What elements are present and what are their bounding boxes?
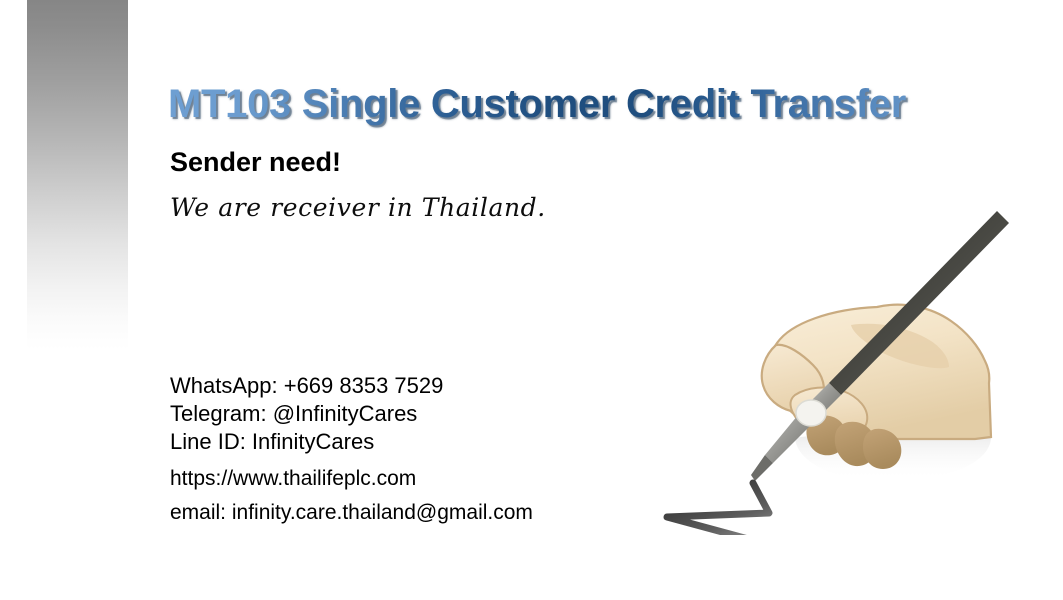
pen-grip-ball bbox=[796, 400, 826, 426]
contact-line-telegram: Telegram: @InfinityCares bbox=[170, 400, 533, 428]
subtitle-text: Sender need! bbox=[170, 145, 341, 179]
left-gradient-band bbox=[27, 0, 128, 350]
hand-writing-with-pen-icon bbox=[645, 195, 1045, 535]
contact-line-website[interactable]: https://www.thailifeplc.com bbox=[170, 462, 533, 496]
contact-line-whatsapp: WhatsApp: +669 8353 7529 bbox=[170, 372, 533, 400]
page-title: MT103 Single Customer Credit Transfer MT… bbox=[168, 78, 1018, 134]
slide-canvas: MT103 Single Customer Credit Transfer MT… bbox=[0, 0, 1063, 600]
script-note-text: We are receiver in Thailand. bbox=[170, 192, 546, 224]
contact-list: WhatsApp: +669 8353 7529 Telegram: @Infi… bbox=[170, 372, 533, 530]
contact-line-email[interactable]: email: infinity.care.thailand@gmail.com bbox=[170, 496, 533, 530]
contact-line-lineid: Line ID: InfinityCares bbox=[170, 428, 533, 456]
signature-squiggle bbox=[667, 483, 797, 535]
page-title-text: MT103 Single Customer Credit Transfer bbox=[168, 78, 1018, 130]
